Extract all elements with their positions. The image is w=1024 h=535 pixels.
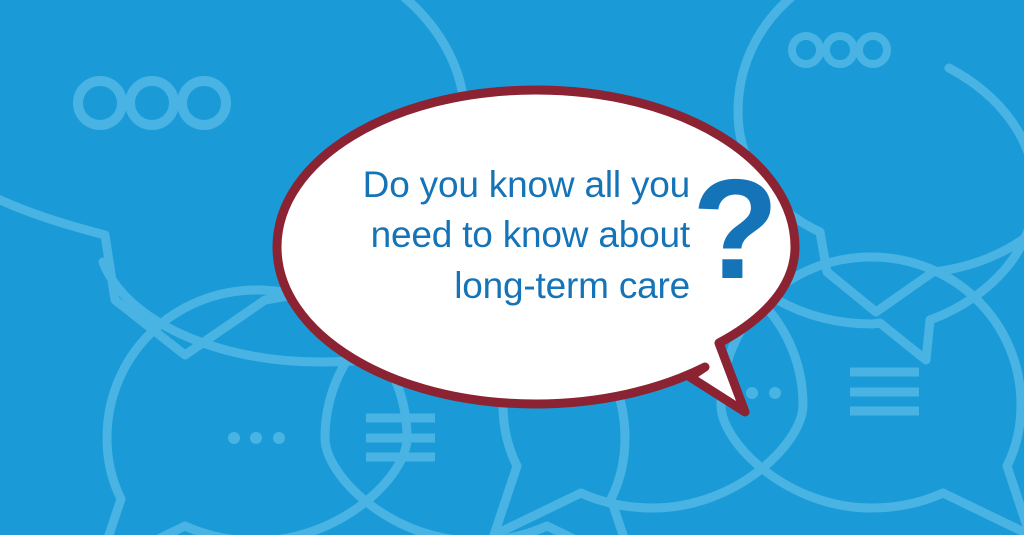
dot-icon [228,432,240,444]
question-mark-glyph: ? [692,159,770,301]
dot-icon [769,387,781,399]
bottom-left-dots [228,432,285,444]
dot-icon [746,387,758,399]
dot-icon [250,432,262,444]
dot-icon [273,432,285,444]
bottom-right-dots [724,387,781,399]
graphic-canvas: Do you know all you need to know about l… [0,0,1024,535]
headline-text: Do you know all you need to know about l… [300,160,690,311]
